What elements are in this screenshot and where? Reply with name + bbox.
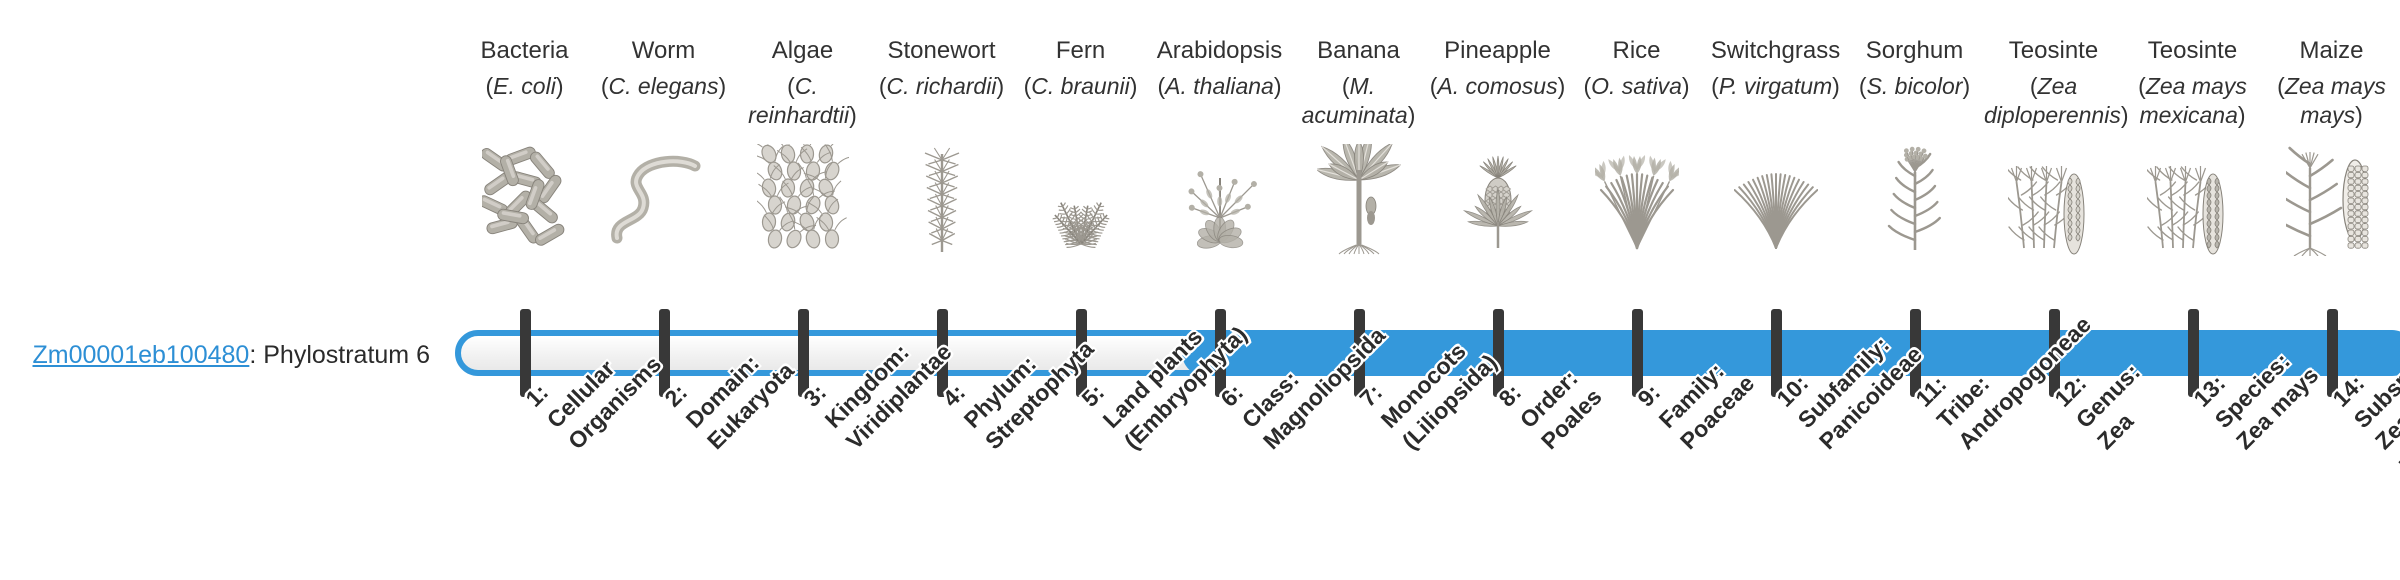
species-scientific-name: (E. coli) — [455, 72, 594, 134]
species-scientific-name: (C. elegans) — [594, 72, 733, 134]
species-column: Arabidopsis(A. thaliana) — [1150, 0, 1289, 256]
stonewort-illustration — [872, 140, 1011, 256]
species-column: Teosinte(Zea diploperennis) — [1984, 0, 2123, 256]
species-common-name: Fern — [1011, 36, 1150, 66]
fern-illustration — [1011, 140, 1150, 256]
species-scientific-name: (O. sativa) — [1567, 72, 1706, 134]
species-scientific-name: (Zea mays mexicana) — [2123, 72, 2262, 134]
species-column: Rice(O. sativa) — [1567, 0, 1706, 256]
species-column: Banana(M. acuminata) — [1289, 0, 1428, 256]
rice-illustration — [1567, 140, 1706, 256]
species-column: Pineapple(A. comosus) — [1428, 0, 1567, 256]
banana-illustration — [1289, 140, 1428, 256]
species-column: Bacteria(E. coli) — [455, 0, 594, 256]
sorghum-illustration — [1845, 140, 1984, 256]
algae-illustration — [733, 140, 872, 256]
species-common-name: Sorghum — [1845, 36, 1984, 66]
species-common-name: Pineapple — [1428, 36, 1567, 66]
species-common-name: Teosinte — [1984, 36, 2123, 66]
species-common-name: Arabidopsis — [1150, 36, 1289, 66]
arabidopsis-illustration — [1150, 140, 1289, 256]
species-scientific-name: (C. reinhardtii) — [733, 72, 872, 134]
species-column: Switchgrass(P. virgatum) — [1706, 0, 1845, 256]
teosinte-diploperennis-illustration — [1984, 140, 2123, 256]
species-column: Maize(Zea mays mays) — [2262, 0, 2400, 256]
phylostratum-figure: Zm00001eb100480: Phylostratum 6 Bacteria… — [0, 0, 2400, 580]
species-column: Teosinte(Zea mays mexicana) — [2123, 0, 2262, 256]
species-scientific-name: (A. comosus) — [1428, 72, 1567, 134]
pineapple-illustration — [1428, 140, 1567, 256]
species-scientific-name: (Zea mays mays) — [2262, 72, 2400, 134]
species-scientific-name: (S. bicolor) — [1845, 72, 1984, 134]
species-common-name: Teosinte — [2123, 36, 2262, 66]
species-common-name: Banana — [1289, 36, 1428, 66]
species-common-name: Worm — [594, 36, 733, 66]
species-common-name: Stonewort — [872, 36, 1011, 66]
species-column: Stonewort(C. richardii) — [872, 0, 1011, 256]
teosinte-mexicana-illustration — [2123, 140, 2262, 256]
species-scientific-name: (P. virgatum) — [1706, 72, 1845, 134]
species-column: Algae(C. reinhardtii) — [733, 0, 872, 256]
species-scientific-name: (Zea diploperennis) — [1984, 72, 2123, 134]
maize-illustration — [2262, 140, 2400, 256]
species-column: Worm(C. elegans) — [594, 0, 733, 256]
species-common-name: Bacteria — [455, 36, 594, 66]
switchgrass-illustration — [1706, 140, 1845, 256]
species-scientific-name: (M. acuminata) — [1289, 72, 1428, 134]
species-scientific-name: (C. richardii) — [872, 72, 1011, 134]
species-column: Sorghum(S. bicolor) — [1845, 0, 1984, 256]
taxonomy-labels: 1: Cellular Organisms2: Domain: Eukaryot… — [0, 392, 2400, 580]
species-common-name: Rice — [1567, 36, 1706, 66]
species-scientific-name: (C. braunii) — [1011, 72, 1150, 134]
bacteria-illustration — [455, 140, 594, 256]
nematode-illustration — [594, 140, 733, 256]
species-common-name: Switchgrass — [1706, 36, 1845, 66]
species-common-name: Algae — [733, 36, 872, 66]
species-column: Fern(C. braunii) — [1011, 0, 1150, 256]
species-scientific-name: (A. thaliana) — [1150, 72, 1289, 134]
species-common-name: Maize — [2262, 36, 2400, 66]
